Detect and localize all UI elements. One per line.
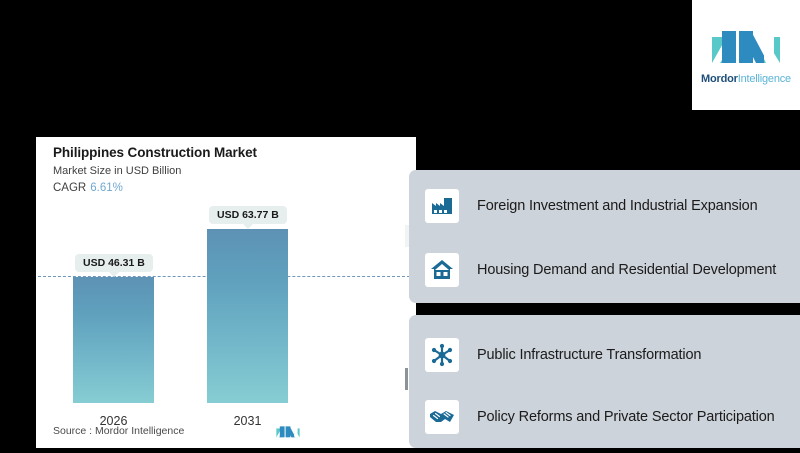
driver-label: Policy Reforms and Private Sector Partic…	[477, 408, 775, 427]
drivers-panel-2: Public Infrastructure Transformation Pol…	[409, 315, 800, 448]
panel-seam-lower	[405, 368, 408, 390]
driver-item-public-infrastructure[interactable]: Public Infrastructure Transformation	[425, 327, 795, 383]
brand-logo-card: MordorIntelligence	[692, 0, 800, 110]
drivers-panel-1: Foreign Investment and Industrial Expans…	[409, 170, 800, 303]
source-row: Source : Mordor Intelligence	[53, 424, 404, 440]
bar-2026[interactable]	[73, 277, 154, 403]
network-hub-icon	[425, 338, 459, 372]
driver-label: Public Infrastructure Transformation	[477, 346, 701, 365]
house-icon	[425, 253, 459, 287]
driver-item-foreign-investment[interactable]: Foreign Investment and Industrial Expans…	[425, 178, 795, 234]
brand-wordmark: MordorIntelligence	[701, 73, 791, 85]
driver-label: Housing Demand and Residential Developme…	[477, 261, 776, 280]
chart-card: Philippines Construction Market Market S…	[36, 137, 416, 448]
mordor-m-logo-icon	[708, 25, 784, 67]
handshake-icon	[425, 400, 459, 434]
value-callout-2031: USD 63.77 B	[209, 206, 287, 224]
brand-word-primary: Mordor	[701, 73, 738, 85]
driver-item-housing-demand[interactable]: Housing Demand and Residential Developme…	[425, 242, 795, 298]
mordor-m-logo-icon	[275, 424, 301, 439]
value-callout-2026: USD 46.31 B	[75, 254, 153, 272]
factory-icon	[425, 189, 459, 223]
source-text: Source : Mordor Intelligence	[53, 425, 184, 437]
driver-item-policy-reforms[interactable]: Policy Reforms and Private Sector Partic…	[425, 389, 795, 445]
bar-chart-plot-area: USD 46.31 B USD 63.77 B 2026 2031	[36, 137, 416, 448]
driver-label: Foreign Investment and Industrial Expans…	[477, 197, 758, 216]
brand-word-secondary: Intelligence	[738, 73, 791, 85]
bar-2031[interactable]	[207, 229, 288, 403]
